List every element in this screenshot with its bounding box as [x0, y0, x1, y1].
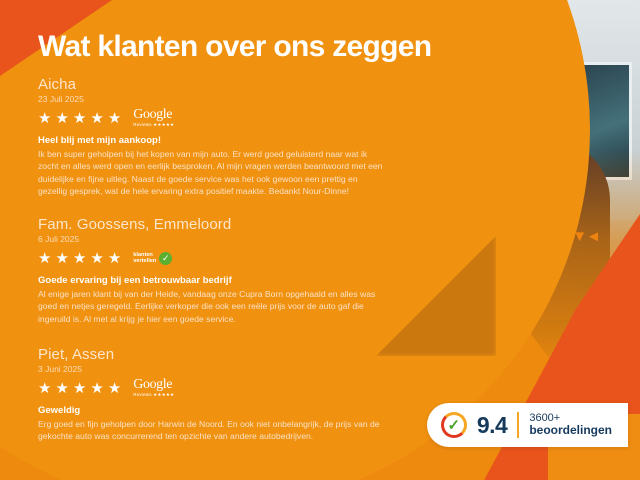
star-icon: ★: [38, 381, 51, 396]
star-icon: ★: [38, 251, 51, 266]
review-title: Heel blij met mijn aankoop!: [38, 135, 398, 146]
review-card: Piet, Assen 3 Juni 2025 ★ ★ ★ ★ ★ Google…: [38, 346, 398, 443]
google-wordmark: Google: [133, 108, 174, 122]
star-rating: ★ ★ ★ ★ ★: [38, 251, 121, 266]
testimonials-banner: ▼◄ Wat klanten over ons zeggen Aicha 23 …: [0, 0, 640, 480]
star-icon: ★: [55, 381, 68, 396]
star-icon: ★: [73, 251, 86, 266]
reviewer-name: Fam. Goossens, Emmeloord: [38, 216, 398, 233]
star-icon: ★: [38, 111, 51, 126]
checkmark-icon: ✓: [441, 412, 467, 438]
check-badge-icon: ✓: [159, 252, 172, 265]
star-icon: ★: [108, 251, 121, 266]
rating-score: 9.4: [477, 412, 507, 439]
overall-rating-badge: ✓ 9.4 3600+ beoordelingen: [427, 403, 628, 447]
banner-content: Wat klanten over ons zeggen Aicha 23 Jul…: [0, 0, 640, 480]
star-icon: ★: [90, 111, 103, 126]
review-body: Erg goed en fijn geholpen door Harwin de…: [38, 418, 383, 443]
klantenvertellen-line2: vertellen: [133, 258, 156, 264]
page-title: Wat klanten over ons zeggen: [38, 30, 431, 64]
star-icon: ★: [90, 251, 103, 266]
google-wordmark: Google: [133, 378, 174, 392]
reviewer-name: Aicha: [38, 76, 398, 93]
star-icon: ★: [108, 111, 121, 126]
reviewer-name: Piet, Assen: [38, 346, 398, 363]
review-card: Fam. Goossens, Emmeloord 6 Juli 2025 ★ ★…: [38, 216, 398, 325]
review-body: Ik ben super geholpen bij het kopen van …: [38, 148, 383, 198]
review-title: Geweldig: [38, 405, 398, 416]
star-rating: ★ ★ ★ ★ ★: [38, 111, 121, 126]
klantenvertellen-wordmark: klanten vertellen: [133, 252, 156, 264]
rating-row: ★ ★ ★ ★ ★ klanten vertellen ✓: [38, 247, 398, 269]
review-date: 23 Juli 2025: [38, 94, 398, 104]
rating-row: ★ ★ ★ ★ ★ Google Reviews ★★★★★: [38, 377, 398, 399]
star-icon: ★: [90, 381, 103, 396]
review-card: Aicha 23 Juli 2025 ★ ★ ★ ★ ★ Google Revi…: [38, 76, 398, 198]
star-icon: ★: [73, 381, 86, 396]
review-title: Goede ervaring bij een betrouwbaar bedri…: [38, 275, 398, 286]
rating-count-block: 3600+ beoordelingen: [529, 412, 612, 438]
google-reviews-sublabel: Reviews ★★★★★: [133, 393, 174, 398]
star-rating: ★ ★ ★ ★ ★: [38, 381, 121, 396]
star-icon: ★: [55, 251, 68, 266]
klantenvertellen-logo: klanten vertellen ✓: [133, 252, 172, 265]
review-body: Al enige jaren klant bij van der Heide, …: [38, 288, 383, 325]
star-icon: ★: [108, 381, 121, 396]
google-reviews-sublabel: Reviews ★★★★★: [133, 123, 174, 128]
google-reviews-logo: Google Reviews ★★★★★: [133, 378, 174, 398]
rating-row: ★ ★ ★ ★ ★ Google Reviews ★★★★★: [38, 107, 398, 129]
star-icon: ★: [55, 111, 68, 126]
review-date: 3 Juni 2025: [38, 364, 398, 374]
badge-divider: [517, 412, 519, 438]
google-reviews-logo: Google Reviews ★★★★★: [133, 108, 174, 128]
rating-count-label: beoordelingen: [529, 424, 612, 438]
review-date: 6 Juli 2025: [38, 234, 398, 244]
klantenvertellen-check-icon: ✓: [441, 412, 467, 438]
star-icon: ★: [73, 111, 86, 126]
